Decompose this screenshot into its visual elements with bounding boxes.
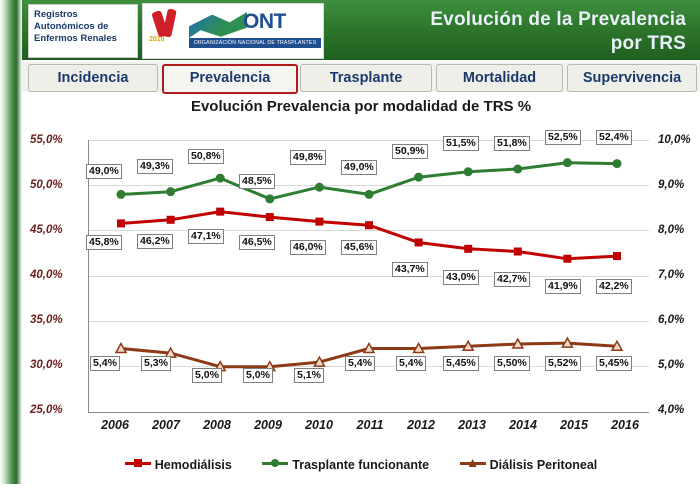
tab-prevalencia[interactable]: Prevalencia bbox=[162, 64, 298, 94]
right-axis-tick-8: 8,0% bbox=[658, 224, 684, 236]
registry-logo: Registros Autonómicos de Enfermos Renale… bbox=[28, 4, 138, 58]
label-hemodialisis-2011: 45,6% bbox=[341, 240, 377, 255]
label-peritoneal-2015: 5,52% bbox=[545, 356, 581, 371]
label-hemodialisis-2013: 43,0% bbox=[443, 270, 479, 285]
chart-title: Evolución Prevalencia por modalidad de T… bbox=[22, 98, 700, 115]
ont-logo-main: ONT ORGANIZACIÓN NACIONAL DE TRASPLANTES bbox=[189, 8, 321, 54]
label-peritoneal-2011: 5,4% bbox=[345, 356, 375, 371]
registry-line2: Autonómicos de bbox=[29, 21, 137, 33]
ont-flame-icon: 2016 bbox=[147, 9, 189, 53]
label-hemodialisis-2010: 46,0% bbox=[290, 240, 326, 255]
tab-incidencia[interactable]: Incidencia bbox=[28, 64, 158, 92]
chart-legend: Hemodiálisis Trasplante funcionante Diál… bbox=[22, 456, 700, 482]
label-trasplante-2008: 50,8% bbox=[188, 149, 224, 164]
label-trasplante-2010: 49,8% bbox=[290, 150, 326, 165]
left-green-edge bbox=[0, 0, 22, 489]
legend-label-trasplante: Trasplante funcionante bbox=[292, 458, 429, 472]
ont-logo: 2016 ONT ORGANIZACIÓN NACIONAL DE TRASPL… bbox=[142, 3, 324, 59]
label-hemodialisis-2012: 43,7% bbox=[392, 262, 428, 277]
ont-year-label: 2016 bbox=[149, 36, 165, 43]
legend-swatch-peritoneal bbox=[460, 462, 486, 465]
left-axis-tick-55: 55,0% bbox=[30, 134, 63, 146]
plot-canvas bbox=[88, 140, 649, 413]
label-trasplante-2015: 52,5% bbox=[545, 130, 581, 145]
legend-item-peritoneal: Diálisis Peritoneal bbox=[460, 458, 598, 472]
x-tick-2007: 2007 bbox=[143, 418, 189, 432]
registry-line1: Registros bbox=[29, 5, 137, 21]
label-trasplante-2012: 50,9% bbox=[392, 144, 428, 159]
tab-trasplante[interactable]: Trasplante bbox=[300, 64, 432, 92]
x-tick-2015: 2015 bbox=[551, 418, 597, 432]
x-tick-2009: 2009 bbox=[245, 418, 291, 432]
right-axis-tick-5: 5,0% bbox=[658, 359, 684, 371]
label-peritoneal-2012: 5,4% bbox=[396, 356, 426, 371]
right-axis-tick-10: 10,0% bbox=[658, 134, 691, 146]
slide-root: Evolución de la Prevalencia por TRS Regi… bbox=[0, 0, 700, 489]
x-tick-2006: 2006 bbox=[92, 418, 138, 432]
label-peritoneal-2010: 5,1% bbox=[294, 368, 324, 383]
x-tick-2013: 2013 bbox=[449, 418, 495, 432]
series-lines bbox=[89, 140, 649, 412]
right-axis-tick-6: 6,0% bbox=[658, 314, 684, 326]
label-trasplante-2014: 51,8% bbox=[494, 136, 530, 151]
x-tick-2010: 2010 bbox=[296, 418, 342, 432]
left-axis-tick-50: 50,0% bbox=[30, 179, 63, 191]
label-trasplante-2016: 52,4% bbox=[596, 130, 632, 145]
label-hemodialisis-2015: 41,9% bbox=[545, 279, 581, 294]
label-peritoneal-2016: 5,45% bbox=[596, 356, 632, 371]
x-tick-2008: 2008 bbox=[194, 418, 240, 432]
legend-item-trasplante: Trasplante funcionante bbox=[262, 458, 429, 472]
x-tick-2016: 2016 bbox=[602, 418, 648, 432]
label-trasplante-2009: 48,5% bbox=[239, 174, 275, 189]
left-axis-tick-45: 45,0% bbox=[30, 224, 63, 236]
label-hemodialisis-2009: 46,5% bbox=[239, 235, 275, 250]
x-tick-2014: 2014 bbox=[500, 418, 546, 432]
tab-bar: Incidencia Prevalencia Trasplante Mortal… bbox=[22, 62, 700, 92]
registry-line3: Enfermos Renales bbox=[29, 33, 137, 45]
legend-swatch-hemodialisis bbox=[125, 462, 151, 465]
label-trasplante-2013: 51,5% bbox=[443, 136, 479, 151]
label-peritoneal-2013: 5,45% bbox=[443, 356, 479, 371]
left-axis-tick-30: 30,0% bbox=[30, 359, 63, 371]
label-trasplante-2011: 49,0% bbox=[341, 160, 377, 175]
label-trasplante-2006: 49,0% bbox=[86, 164, 122, 179]
label-hemodialisis-2008: 47,1% bbox=[188, 229, 224, 244]
label-hemodialisis-2007: 46,2% bbox=[137, 234, 173, 249]
right-axis-tick-9: 9,0% bbox=[658, 179, 684, 191]
bottom-edge bbox=[0, 484, 700, 489]
left-axis-tick-25: 25,0% bbox=[30, 404, 63, 416]
legend-swatch-trasplante bbox=[262, 462, 288, 465]
left-axis-tick-35: 35,0% bbox=[30, 314, 63, 326]
left-axis-tick-40: 40,0% bbox=[30, 269, 63, 281]
chart-area: 55,0% 50,0% 45,0% 40,0% 35,0% 30,0% 25,0… bbox=[30, 122, 695, 452]
x-tick-2011: 2011 bbox=[347, 418, 393, 432]
legend-label-peritoneal: Diálisis Peritoneal bbox=[490, 458, 598, 472]
right-axis-tick-4: 4,0% bbox=[658, 404, 684, 416]
ont-swoosh-icon bbox=[189, 12, 247, 38]
legend-item-hemodialisis: Hemodiálisis bbox=[125, 458, 232, 472]
tab-mortalidad[interactable]: Mortalidad bbox=[436, 64, 563, 92]
label-hemodialisis-2006: 45,8% bbox=[86, 235, 122, 250]
label-peritoneal-2007: 5,3% bbox=[141, 356, 171, 371]
header-bar: Evolución de la Prevalencia por TRS Regi… bbox=[22, 0, 700, 60]
legend-label-hemodialisis: Hemodiálisis bbox=[155, 458, 232, 472]
ont-subtitle: ORGANIZACIÓN NACIONAL DE TRASPLANTES bbox=[189, 38, 321, 48]
label-hemodialisis-2016: 42,2% bbox=[596, 279, 632, 294]
label-hemodialisis-2014: 42,7% bbox=[494, 272, 530, 287]
right-axis-tick-7: 7,0% bbox=[658, 269, 684, 281]
label-peritoneal-2008: 5,0% bbox=[192, 368, 222, 383]
tab-supervivencia[interactable]: Supervivencia bbox=[567, 64, 697, 92]
label-peritoneal-2009: 5,0% bbox=[243, 368, 273, 383]
label-trasplante-2007: 49,3% bbox=[137, 159, 173, 174]
label-peritoneal-2014: 5,50% bbox=[494, 356, 530, 371]
ont-acronym: ONT bbox=[243, 10, 286, 34]
x-tick-2012: 2012 bbox=[398, 418, 444, 432]
label-peritoneal-2006: 5,4% bbox=[90, 356, 120, 371]
